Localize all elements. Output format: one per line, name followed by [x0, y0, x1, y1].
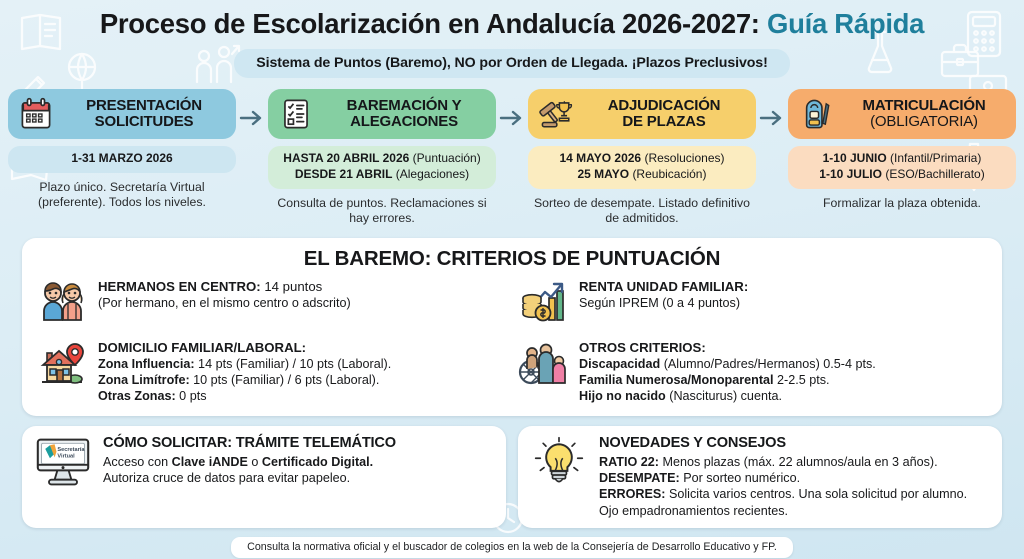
house-pin-icon [36, 338, 88, 390]
como-solicitar-title: CÓMO SOLICITAR: TRÁMITE TELEMÁTICO [103, 434, 396, 453]
criterion-heading: RENTA UNIDAD FAMILIAR: [579, 279, 748, 294]
step-date-primary: 1-31 MARZO 2026 [71, 151, 172, 165]
criterion-line: Zona Limítrofe: 10 pts (Familiar) / 6 pt… [98, 373, 379, 387]
baremo-title: EL BAREMO: CRITERIOS DE PUNTUACIÓN [36, 247, 988, 271]
checklist-icon [278, 96, 314, 132]
criterion-otros-criterios: OTROS CRITERIOS: Discapacidad (Alumno/Pa… [517, 338, 988, 405]
coins-chart-icon [517, 277, 569, 329]
step-header: BAREMACIÓN Y ALEGACIONES [268, 89, 496, 139]
baremo-card: EL BAREMO: CRITERIOS DE PUNTUACIÓN HERMA… [22, 238, 1002, 416]
lightbulb-icon [530, 434, 588, 490]
step-dates: 14 MAYO 2026 (Resoluciones) 25 MAYO (Reu… [528, 146, 756, 189]
footer-note: Consulta la normativa oficial y el busca… [231, 537, 793, 558]
criterion-heading: HERMANOS EN CENTRO: [98, 279, 261, 294]
page-subtitle-banner: Sistema de Puntos (Baremo), NO por Orden… [234, 49, 789, 78]
baremo-right-column: RENTA UNIDAD FAMILIAR: Según IPREM (0 a … [517, 277, 988, 405]
step-note: Plazo único. Secretaría Virtual (prefere… [8, 180, 236, 211]
criterion-renta-unidad-familiar: RENTA UNIDAD FAMILIAR: Según IPREM (0 a … [517, 277, 988, 329]
criterion-hermanos-en-centro: HERMANOS EN CENTRO: 14 puntos (Por herma… [36, 277, 507, 329]
step-header: MATRICULACIÓN (OBLIGATORIA) [788, 89, 1016, 139]
step-dates: 1-10 JUNIO (Infantil/Primaria) 1-10 JULI… [788, 146, 1016, 189]
step-title-line1: ADJUDICACIÓN [608, 97, 721, 114]
wheelchair-family-icon [517, 338, 569, 390]
process-steps: PRESENTACIÓN SOLICITUDES 1-31 MARZO 2026… [0, 89, 1024, 227]
step-date-secondary-note: (Alegaciones) [396, 167, 469, 181]
criterion-line: Según IPREM (0 a 4 puntos) [579, 296, 740, 310]
step-header: ADJUDICACIÓN DE PLAZAS [528, 89, 756, 139]
step-title-line1: BAREMACIÓN Y [347, 97, 462, 114]
step-note: Consulta de puntos. Reclamaciones si hay… [268, 196, 496, 227]
calendar-icon [18, 96, 54, 132]
criterion-text: RENTA UNIDAD FAMILIAR: Según IPREM (0 a … [579, 277, 748, 312]
novedades-text: NOVEDADES Y CONSEJOS RATIO 22: Menos pla… [599, 434, 967, 519]
step-date-secondary: DESDE 21 ABRIL [295, 167, 393, 181]
page-header: Proceso de Escolarización en Andalucía 2… [0, 0, 1024, 78]
como-solicitar-card: SecretaríaVirtual CÓMO SOLICITAR: TRÁMIT… [22, 426, 506, 528]
monitor-secretaria-virtual-icon: SecretaríaVirtual [34, 434, 92, 490]
process-step-adjudicacion-plazas[interactable]: ADJUDICACIÓN DE PLAZAS 14 MAYO 2026 (Res… [528, 89, 756, 227]
novedades-title: NOVEDADES Y CONSEJOS [599, 434, 967, 453]
step-title-line2: ALEGACIONES [350, 113, 458, 130]
criterion-line: (Por hermano, en el mismo centro o adscr… [98, 296, 351, 310]
step-title-line2: DE PLAZAS [622, 113, 705, 130]
svg-text:Secretaría: Secretaría [57, 446, 85, 452]
process-step-presentacion-solicitudes[interactable]: PRESENTACIÓN SOLICITUDES 1-31 MARZO 2026… [8, 89, 236, 211]
novedades-line: Ojo empadronamientos recientes. [599, 504, 788, 518]
criterion-text: HERMANOS EN CENTRO: 14 puntos (Por herma… [98, 277, 351, 312]
step-date-primary-note: (Infantil/Primaria) [890, 151, 981, 165]
step-date-primary: HASTA 20 ABRIL 2026 [283, 151, 409, 165]
page-title: Proceso de Escolarización en Andalucía 2… [0, 9, 1024, 40]
criterion-heading: OTROS CRITERIOS: [579, 340, 706, 355]
step-title-line1: PRESENTACIÓN [86, 97, 202, 114]
criterion-text: DOMICILIO FAMILIAR/LABORAL: Zona Influen… [98, 338, 391, 405]
step-note: Formalizar la plaza obtenida. [788, 196, 1016, 211]
svg-text:Virtual: Virtual [57, 453, 75, 459]
novedades-line: RATIO 22: Menos plazas (máx. 22 alumnos/… [599, 455, 938, 469]
arrow-right-icon [756, 89, 788, 127]
arrow-right-icon [236, 89, 268, 127]
arrow-right-icon [496, 89, 528, 127]
bottom-cards-row: SecretaríaVirtual CÓMO SOLICITAR: TRÁMIT… [22, 426, 1002, 528]
step-note: Sorteo de desempate. Listado definitivo … [528, 196, 756, 227]
process-step-matriculacion[interactable]: MATRICULACIÓN (OBLIGATORIA) 1-10 JUNIO (… [788, 89, 1016, 211]
novedades-consejos-card: NOVEDADES Y CONSEJOS RATIO 22: Menos pla… [518, 426, 1002, 528]
criterion-domicilio-familiar-laboral: DOMICILIO FAMILIAR/LABORAL: Zona Influen… [36, 338, 507, 405]
criterion-heading: DOMICILIO FAMILIAR/LABORAL: [98, 340, 306, 355]
gavel-trophy-icon [538, 96, 574, 132]
como-solicitar-line: Acceso con Clave iANDE o Certificado Dig… [103, 455, 373, 469]
step-date-primary-note: (Resoluciones) [644, 151, 724, 165]
step-date-primary: 1-10 JUNIO [823, 151, 887, 165]
step-date-primary: 14 MAYO 2026 [560, 151, 642, 165]
criterion-line: Otras Zonas: 0 pts [98, 389, 207, 403]
step-date-secondary: 1-10 JULIO [819, 167, 882, 181]
como-solicitar-text: CÓMO SOLICITAR: TRÁMITE TELEMÁTICO Acces… [103, 434, 396, 487]
step-date-primary-note: (Puntuación) [413, 151, 481, 165]
step-date-secondary: 25 MAYO [578, 167, 630, 181]
step-date-secondary-note: (ESO/Bachillerato) [885, 167, 984, 181]
step-title-line1: MATRICULACIÓN [863, 97, 986, 114]
step-title: PRESENTACIÓN SOLICITUDES [62, 98, 226, 130]
page-title-main: Proceso de Escolarización en Andalucía 2… [100, 8, 760, 39]
step-dates: 1-31 MARZO 2026 [8, 146, 236, 173]
step-title-line2: (OBLIGATORIA) [870, 113, 978, 130]
process-step-baremacion-alegaciones[interactable]: BAREMACIÓN Y ALEGACIONES HASTA 20 ABRIL … [268, 89, 496, 227]
criterion-text: OTROS CRITERIOS: Discapacidad (Alumno/Pa… [579, 338, 876, 405]
step-title-line2: SOLICITUDES [95, 113, 194, 130]
novedades-line: ERRORES: Solicita varios centros. Una so… [599, 487, 967, 501]
criterion-line: Familia Numerosa/Monoparental 2-2.5 pts. [579, 373, 830, 387]
page-title-accent: Guía Rápida [767, 8, 924, 39]
step-date-secondary-note: (Reubicación) [632, 167, 706, 181]
siblings-icon [36, 277, 88, 329]
criterion-heading-tail: 14 puntos [261, 279, 323, 294]
step-title: ADJUDICACIÓN DE PLAZAS [582, 98, 746, 130]
step-header: PRESENTACIÓN SOLICITUDES [8, 89, 236, 139]
criterion-line: Discapacidad (Alumno/Padres/Hermanos) 0.… [579, 357, 876, 371]
baremo-left-column: HERMANOS EN CENTRO: 14 puntos (Por herma… [36, 277, 507, 405]
criterion-line: Hijo no nacido (Nasciturus) cuenta. [579, 389, 782, 403]
novedades-line: DESEMPATE: Por sorteo numérico. [599, 471, 800, 485]
step-title: MATRICULACIÓN (OBLIGATORIA) [842, 98, 1006, 130]
como-solicitar-line: Autoriza cruce de datos para evitar pape… [103, 471, 350, 485]
criterion-line: Zona Influencia: 14 pts (Familiar) / 10 … [98, 357, 391, 371]
step-dates: HASTA 20 ABRIL 2026 (Puntuación) DESDE 2… [268, 146, 496, 189]
backpack-pen-icon [798, 96, 834, 132]
step-title: BAREMACIÓN Y ALEGACIONES [322, 98, 486, 130]
